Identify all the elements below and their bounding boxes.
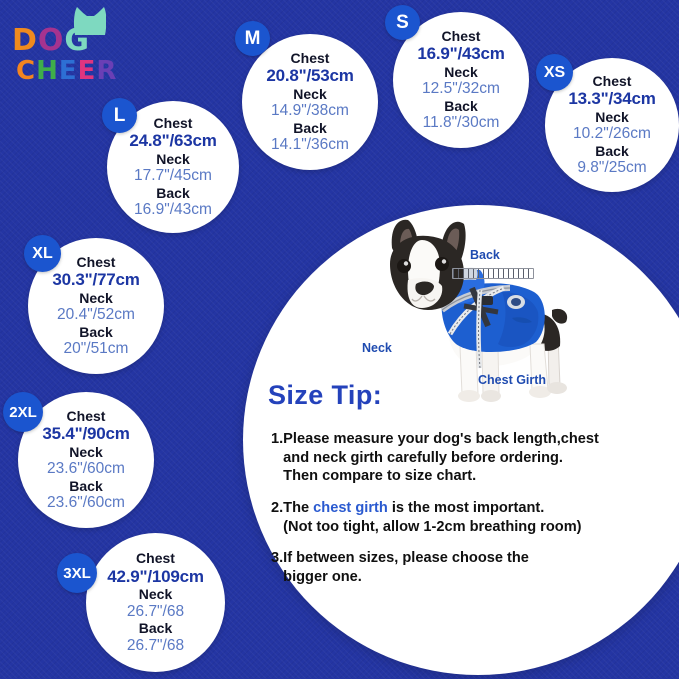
brand-letter-d: D — [12, 26, 38, 56]
size-tip-1-line2: and neck girth carefully before ordering… — [283, 450, 563, 466]
measuring-tape-icon — [452, 268, 534, 279]
brand-line-dog: D O G — [12, 26, 90, 56]
size-badge-XS[interactable]: XS — [536, 54, 573, 91]
size-bubble-M-chest-value: 20.8"/53cm — [266, 66, 353, 86]
size-bubble-XL-back-value: 20"/51cm — [64, 340, 129, 358]
size-bubble-L-chest-value: 24.8"/63cm — [129, 131, 216, 151]
size-tip-1-line3: Then compare to size chart. — [283, 468, 476, 484]
size-bubble-XL-neck-label: Neck — [79, 290, 112, 306]
size-bubble-XL-neck-value: 20.4"/52cm — [57, 306, 135, 324]
size-badge-L[interactable]: L — [102, 98, 137, 133]
size-tip-2-highlight: chest girth — [313, 500, 388, 516]
size-tip-number-1: 1. — [271, 430, 283, 486]
size-bubble-3XL-back-value: 26.7"/68 — [127, 637, 184, 655]
size-bubble-2XL-chest-label: Chest — [67, 408, 106, 424]
size-bubble-M-back-value: 14.1"/36cm — [271, 136, 349, 154]
size-bubble-XS-neck-label: Neck — [595, 109, 628, 125]
size-badge-M[interactable]: M — [235, 21, 270, 56]
size-bubble-3XL-neck-value: 26.7"/68 — [127, 603, 184, 621]
size-bubble-3XL-neck-label: Neck — [139, 586, 172, 602]
brand-letter-h: H — [36, 58, 59, 84]
size-tip-text-2: The chest girth is the most important. (… — [283, 499, 621, 536]
size-bubble-XL-chest-label: Chest — [77, 254, 116, 270]
brand-letter-o: O — [38, 26, 65, 56]
size-bubble-2XL-chest-value: 35.4"/90cm — [42, 424, 129, 444]
size-bubble-XS-back-value: 9.8"/25cm — [577, 159, 646, 177]
size-bubble-XL-back-label: Back — [79, 324, 112, 340]
size-bubble-3XL-chest-value: 42.9"/109cm — [107, 567, 204, 587]
diagram-label-chest-girth: Chest Girth — [478, 373, 546, 387]
brand-logo: D O G C H E E R — [8, 6, 118, 92]
size-bubble-2XL-back-value: 23.6"/60cm — [47, 494, 125, 512]
size-bubble-XS-neck-value: 10.2"/26cm — [573, 125, 651, 143]
size-tip-text-1: Please measure your dog's back length,ch… — [283, 430, 621, 486]
size-badge-XL[interactable]: XL — [24, 235, 61, 272]
size-bubble-L-neck-value: 17.7"/45cm — [134, 167, 212, 185]
brand-letter-e2: E — [78, 58, 97, 84]
size-bubble-3XL-chest-label: Chest — [136, 550, 175, 566]
size-badge-3XL[interactable]: 3XL — [57, 553, 97, 593]
size-tip-number-2: 2. — [271, 499, 283, 536]
size-bubble-3XL[interactable]: Chest 42.9"/109cm Neck 26.7"/68 Back 26.… — [86, 533, 225, 672]
size-bubble-S-neck-label: Neck — [444, 64, 477, 80]
size-bubble-XS-chest-label: Chest — [593, 73, 632, 89]
size-bubble-2XL-back-label: Back — [69, 478, 102, 494]
size-bubble-M-neck-value: 14.9"/38cm — [271, 102, 349, 120]
size-bubble-L-chest-label: Chest — [154, 115, 193, 131]
size-bubble-3XL-back-label: Back — [139, 620, 172, 636]
size-bubble-M-neck-label: Neck — [293, 86, 326, 102]
size-bubble-S-chest-value: 16.9"/43cm — [417, 44, 504, 64]
size-bubble-M-chest-label: Chest — [291, 50, 330, 66]
size-bubble-2XL-neck-value: 23.6"/60cm — [47, 460, 125, 478]
size-tip-2-line2: (Not too tight, allow 1-2cm breathing ro… — [283, 519, 581, 535]
size-bubble-2XL-neck-label: Neck — [69, 444, 102, 460]
size-bubble-XS-chest-value: 13.3"/34cm — [568, 89, 655, 109]
size-tip-title: Size Tip: — [268, 380, 382, 411]
size-tip-item-1: 1. Please measure your dog's back length… — [271, 430, 621, 486]
size-tip-3-line2: bigger one. — [283, 569, 362, 585]
size-bubble-M-back-label: Back — [293, 120, 326, 136]
brand-letter-e1: E — [59, 58, 78, 84]
size-tip-list: 1. Please measure your dog's back length… — [271, 430, 621, 600]
size-bubble-S-neck-value: 12.5"/32cm — [422, 80, 500, 98]
size-tip-item-3: 3. If between sizes, please choose the b… — [271, 549, 621, 586]
size-tip-text-3: If between sizes, please choose the bigg… — [283, 549, 621, 586]
size-tip-1-line1: Please measure your dog's back length,ch… — [283, 431, 599, 447]
diagram-label-neck: Neck — [362, 341, 392, 355]
size-tip-2-pre: The — [283, 500, 313, 516]
size-chart-infographic: D O G C H E E R — [0, 0, 679, 679]
size-bubble-M[interactable]: Chest 20.8"/53cm Neck 14.9"/38cm Back 14… — [242, 34, 378, 170]
size-bubble-L-neck-label: Neck — [156, 151, 189, 167]
brand-letter-r: R — [96, 58, 117, 84]
size-bubble-S-chest-label: Chest — [442, 28, 481, 44]
size-bubble-S-back-label: Back — [444, 98, 477, 114]
size-badge-2XL[interactable]: 2XL — [3, 392, 43, 432]
brand-letter-g: G — [64, 26, 90, 56]
size-bubble-S-back-value: 11.8"/30cm — [423, 114, 500, 132]
size-bubble-L-back-value: 16.9"/43cm — [134, 201, 212, 219]
size-tip-2-post: is the most important. — [388, 500, 545, 516]
size-bubble-L-back-label: Back — [156, 185, 189, 201]
brand-line-cheer: C H E E R — [16, 58, 117, 84]
size-tip-item-2: 2. The chest girth is the most important… — [271, 499, 621, 536]
brand-letter-c: C — [16, 58, 36, 84]
diagram-label-back: Back — [470, 248, 500, 262]
size-bubble-XL-chest-value: 30.3"/77cm — [52, 270, 139, 290]
size-bubble-XS-back-label: Back — [595, 143, 628, 159]
size-tip-number-3: 3. — [271, 549, 283, 586]
size-badge-S[interactable]: S — [385, 5, 420, 40]
size-tip-3-line1: If between sizes, please choose the — [283, 550, 529, 566]
